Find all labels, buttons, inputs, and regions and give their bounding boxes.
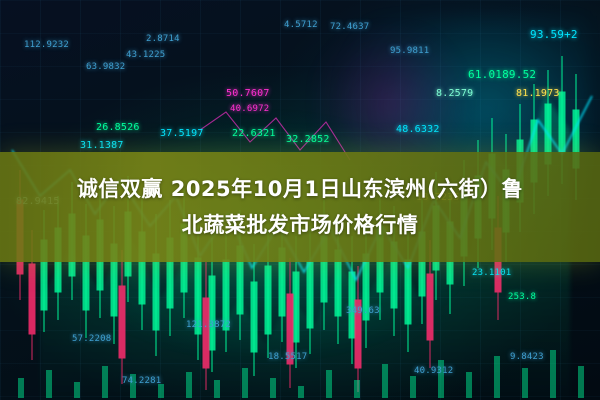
price-tick: 8.2579 — [436, 88, 473, 99]
price-tick: 48.6332 — [396, 124, 440, 135]
news-thumbnail-image: 93.59+261.0189.528.257981.197350.760740.… — [0, 0, 600, 400]
price-tick: 63.9832 — [86, 62, 125, 72]
price-tick: 32.2852 — [286, 134, 330, 145]
headline-line-2: 北蔬菜批发市场价格行情 — [182, 207, 419, 243]
price-tick: 57.2208 — [72, 334, 111, 344]
price-tick: 2.8714 — [146, 34, 180, 44]
price-tick: 40.9312 — [414, 366, 453, 376]
headline-banner: 诚信双赢 2025年10月1日山东滨州(六街）鲁 北蔬菜批发市场价格行情 — [0, 152, 600, 262]
price-tick: 81.1973 — [516, 88, 560, 99]
price-tick: 9.8423 — [510, 352, 544, 362]
price-tick: 121.3872 — [186, 320, 231, 330]
price-tick: 22.6321 — [232, 128, 276, 139]
price-tick: 253.8 — [508, 292, 536, 302]
price-tick: 93.59+2 — [530, 28, 578, 41]
price-tick: 72.4637 — [330, 22, 369, 32]
price-tick: 23.1101 — [472, 268, 511, 278]
price-tick: 40.6972 — [230, 104, 269, 114]
price-tick: 26.8526 — [96, 122, 140, 133]
headline-line-1: 诚信双赢 2025年10月1日山东滨州(六街）鲁 — [77, 171, 523, 207]
price-tick: 112.9232 — [24, 40, 69, 50]
price-tick: 50.7607 — [226, 88, 270, 99]
price-tick: 18.5517 — [268, 352, 307, 362]
price-tick: 37.5197 — [160, 128, 204, 139]
price-tick: 4.5712 — [284, 20, 318, 30]
price-tick: 43.1225 — [126, 50, 165, 60]
price-tick: 349.63 — [346, 306, 380, 316]
price-tick: 74.2281 — [122, 376, 161, 386]
price-tick: 31.1387 — [80, 140, 124, 151]
price-tick: 61.0189.52 — [468, 68, 536, 81]
price-tick: 95.9811 — [390, 46, 429, 56]
